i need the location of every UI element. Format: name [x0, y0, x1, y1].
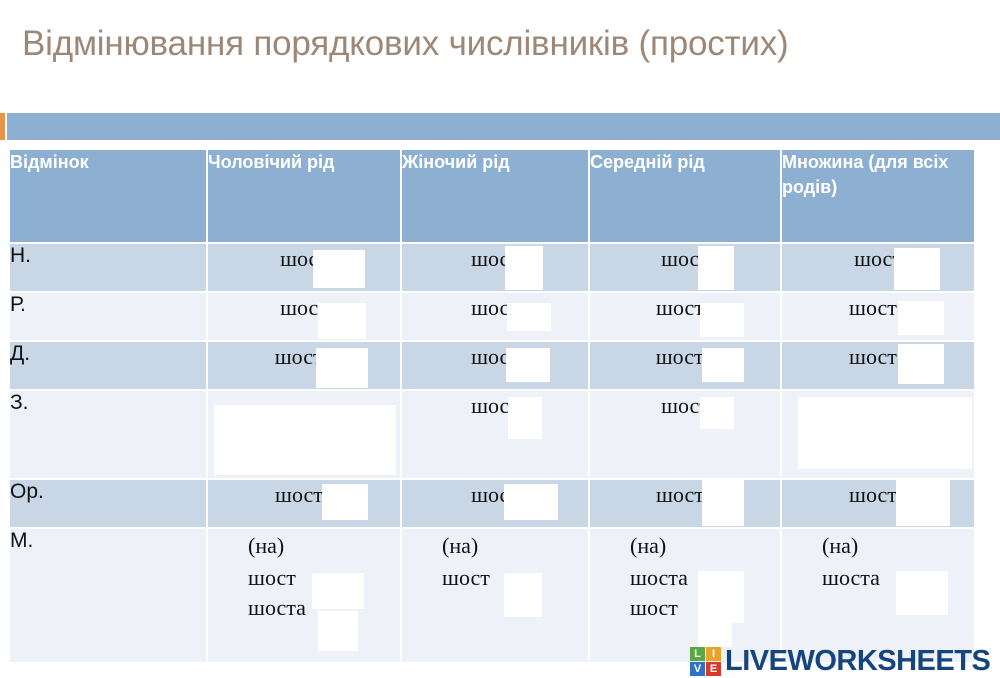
accent-tick — [0, 113, 5, 140]
logo-letter-e: E — [706, 662, 721, 676]
word-stem: шоста — [208, 593, 400, 623]
cell-instrumental-plural: шоста — [782, 480, 974, 527]
cell-dative-neuter: шосто — [590, 342, 780, 389]
word-stem: шост — [402, 563, 588, 593]
preposition-label: (на) — [590, 529, 780, 563]
case-label-genitive: Р. — [10, 293, 206, 340]
answer-blank-nominative-plural[interactable] — [894, 248, 940, 290]
column-header-neuter: Середній рід — [590, 150, 780, 242]
answer-blank-accusative-feminine[interactable] — [508, 397, 542, 439]
table-row-genitive: Р. шост шост шоста шоста — [10, 293, 974, 340]
cell-accusative-masculine — [208, 391, 400, 478]
word-stem: шост — [402, 342, 588, 372]
cell-instrumental-feminine: шост — [402, 480, 588, 527]
word-stem: шоста — [208, 480, 400, 510]
answer-blank-accusative-plural[interactable] — [798, 397, 972, 469]
word-stem: шост — [782, 244, 974, 274]
word-stem: шост — [590, 244, 780, 274]
table-row-locative: М. (на) шост шоста (на) шост (на) шоста … — [10, 529, 974, 662]
answer-blank-locative-masculine-2[interactable] — [318, 611, 358, 651]
answer-blank-instrumental-masculine[interactable] — [322, 484, 368, 520]
word-stem: шоста — [782, 342, 974, 372]
preposition-label: (на) — [782, 529, 974, 563]
case-label-instrumental: Ор. — [10, 480, 206, 527]
answer-blank-dative-masculine[interactable] — [316, 348, 368, 388]
table-row-instrumental: Ор. шоста шост шоста шоста — [10, 480, 974, 527]
cell-nominative-neuter: шост — [590, 244, 780, 291]
answer-blank-dative-plural[interactable] — [898, 344, 944, 384]
logo-letter-v: V — [690, 662, 705, 676]
cell-nominative-masculine: шост — [208, 244, 400, 291]
word-stem: шост — [208, 293, 400, 323]
cell-accusative-plural — [782, 391, 974, 478]
word-stem: шост — [208, 563, 400, 593]
answer-blank-genitive-masculine[interactable] — [318, 303, 366, 339]
answer-blank-instrumental-feminine[interactable] — [504, 484, 558, 520]
answer-blank-dative-feminine[interactable] — [506, 348, 550, 382]
table-body: Н. шост шост шост шост Р. шост — [10, 244, 974, 662]
cell-instrumental-neuter: шоста — [590, 480, 780, 527]
column-header-masculine: Чоловічий рід — [208, 150, 400, 242]
cell-accusative-feminine: шост — [402, 391, 588, 478]
case-label-accusative: З. — [10, 391, 206, 478]
table-row-dative: Д. шосто шост шосто шоста — [10, 342, 974, 389]
answer-blank-locative-masculine-1[interactable] — [312, 573, 364, 609]
preposition-label: (на) — [402, 529, 588, 563]
word-stem: шост — [402, 391, 588, 421]
answer-blank-genitive-plural[interactable] — [898, 301, 944, 335]
word-stem: шост — [590, 593, 780, 623]
word-stem: шоста — [782, 293, 974, 323]
table-header-row: Відмінок Чоловічий рід Жіночий рід Серед… — [10, 150, 974, 242]
word-stem: шост — [402, 244, 588, 274]
answer-blank-instrumental-plural[interactable] — [896, 480, 950, 526]
declension-table: Відмінок Чоловічий рід Жіночий рід Серед… — [8, 148, 976, 664]
case-label-locative: М. — [10, 529, 206, 662]
answer-blank-locative-neuter-2[interactable] — [698, 613, 732, 647]
answer-blank-accusative-masculine[interactable] — [214, 405, 396, 475]
table-row-accusative: З. шост шост — [10, 391, 974, 478]
cell-nominative-feminine: шост — [402, 244, 588, 291]
cell-dative-masculine: шосто — [208, 342, 400, 389]
cell-genitive-feminine: шост — [402, 293, 588, 340]
answer-blank-nominative-neuter[interactable] — [698, 246, 734, 290]
cell-locative-plural: (на) шоста — [782, 529, 974, 662]
cell-locative-masculine: (на) шост шоста — [208, 529, 400, 662]
logo-letter-i: I — [706, 647, 721, 661]
case-label-nominative: Н. — [10, 244, 206, 291]
word-stem: шосто — [590, 342, 780, 372]
word-stem: шосто — [208, 342, 400, 372]
cell-locative-neuter: (на) шоста шост — [590, 529, 780, 662]
answer-blank-dative-neuter[interactable] — [702, 348, 744, 382]
liveworksheets-logo-icon: L I V E — [690, 647, 721, 676]
cell-accusative-neuter: шост — [590, 391, 780, 478]
answer-blank-locative-plural[interactable] — [896, 571, 948, 615]
table-header: Відмінок Чоловічий рід Жіночий рід Серед… — [10, 150, 974, 242]
word-stem: шост — [402, 480, 588, 510]
answer-blank-nominative-feminine[interactable] — [505, 246, 543, 290]
cell-genitive-neuter: шоста — [590, 293, 780, 340]
answer-blank-nominative-masculine[interactable] — [313, 250, 365, 288]
word-stem: шост — [590, 391, 780, 421]
table-row-nominative: Н. шост шост шост шост — [10, 244, 974, 291]
liveworksheets-wordmark: LIVEWORKSHEETS — [725, 645, 990, 678]
answer-blank-locative-feminine[interactable] — [504, 573, 542, 617]
cell-genitive-plural: шоста — [782, 293, 974, 340]
column-header-case: Відмінок — [10, 150, 206, 242]
cell-instrumental-masculine: шоста — [208, 480, 400, 527]
cell-dative-plural: шоста — [782, 342, 974, 389]
case-label-dative: Д. — [10, 342, 206, 389]
logo-letter-l: L — [690, 647, 705, 661]
cell-dative-feminine: шост — [402, 342, 588, 389]
title-accent-bar — [0, 113, 1000, 140]
answer-blank-genitive-neuter[interactable] — [700, 303, 744, 337]
word-stem: шоста — [590, 480, 780, 510]
answer-blank-genitive-feminine[interactable] — [507, 303, 551, 331]
liveworksheets-watermark: L I V E LIVEWORKSHEETS — [690, 645, 990, 677]
column-header-plural: Множина (для всіх родів) — [782, 150, 974, 242]
cell-genitive-masculine: шост — [208, 293, 400, 340]
cell-nominative-plural: шост — [782, 244, 974, 291]
answer-blank-accusative-neuter[interactable] — [700, 397, 734, 429]
answer-blank-instrumental-neuter[interactable] — [702, 480, 744, 526]
word-stem: шост — [208, 244, 400, 274]
cell-locative-feminine: (на) шост — [402, 529, 588, 662]
preposition-label: (на) — [208, 529, 400, 563]
word-stem: шост — [402, 293, 588, 323]
word-stem: шоста — [590, 293, 780, 323]
word-stem: шоста — [590, 563, 780, 593]
accent-bar — [7, 113, 1000, 140]
page-title: Відмінювання порядкових числівників (про… — [22, 22, 962, 66]
column-header-feminine: Жіночий рід — [402, 150, 588, 242]
